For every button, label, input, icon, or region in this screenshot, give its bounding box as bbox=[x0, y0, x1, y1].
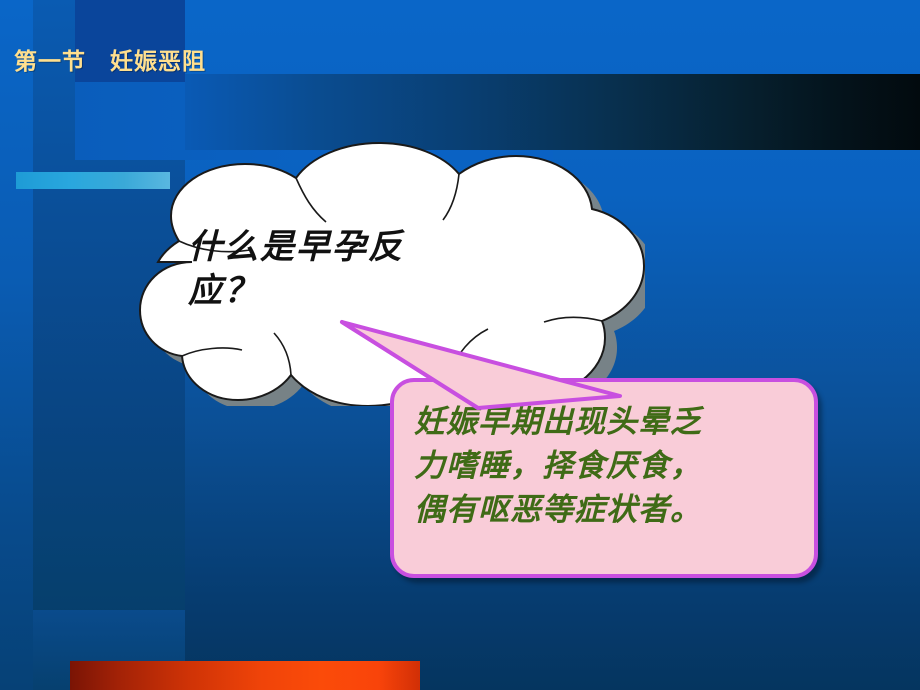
answer-callout-text: 妊娠早期出现头晕乏 力嗜睡，择食厌食， 偶有呕恶等症状者。 bbox=[414, 400, 806, 532]
page-title: 第一节 妊娠恶阻 bbox=[14, 42, 206, 76]
presentation-slide: 第一节 妊娠恶阻 什么是早孕反 应？ 妊 bbox=[0, 0, 920, 690]
bottom-accent-bar bbox=[70, 661, 420, 690]
cloud-question-line-1: 什么是早孕反 bbox=[188, 226, 488, 270]
callout-tail bbox=[330, 300, 660, 410]
background-left-strip bbox=[0, 0, 33, 690]
answer-line-2: 力嗜睡，择食厌食， bbox=[414, 444, 806, 488]
answer-line-3: 偶有呕恶等症状者。 bbox=[414, 488, 806, 532]
callout-tail-shape bbox=[330, 300, 660, 410]
